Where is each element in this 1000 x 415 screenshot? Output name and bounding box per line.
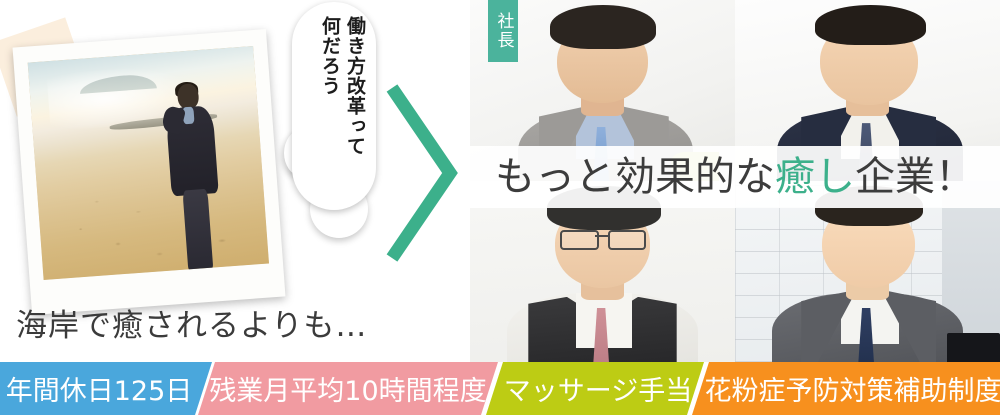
- headline: もっと効果的な癒し企業！: [495, 157, 975, 197]
- employee-navy-hair: [815, 5, 926, 45]
- speech-bubble-line-1: 働き方改革って: [343, 16, 366, 238]
- benefit-item-holidays[interactable]: 年間休日125日: [0, 362, 212, 415]
- left-panel: 働き方改革って 何だろう 海岸で癒されるよりも…: [0, 0, 470, 362]
- benefit-label-holidays: 年間休日125日: [6, 369, 193, 408]
- chevron-right-icon: [378, 78, 464, 268]
- employee-vest-glasses-left: [560, 230, 598, 250]
- benefit-item-overtime[interactable]: 残業月平均10時間程度: [198, 362, 498, 415]
- beach-photo: [28, 46, 269, 280]
- benefit-label-overtime: 残業月平均10時間程度: [209, 369, 486, 408]
- speech-bubble-text: 働き方改革って 何だろう: [284, 2, 376, 238]
- speech-bubble-line-2: 何だろう: [318, 16, 341, 238]
- headline-band: もっと効果的な癒し企業！: [470, 146, 1000, 208]
- employee-vest-glasses-right: [608, 230, 646, 250]
- president-hair: [550, 5, 656, 48]
- man-in-suit-silhouette: [154, 81, 235, 269]
- employee-vest-glasses-bridge: [595, 235, 608, 237]
- man-legs: [182, 189, 214, 271]
- headline-part2: 企業！: [855, 154, 975, 200]
- president-tag: 社長: [488, 0, 518, 62]
- benefit-label-hayfever: 花粉症予防対策補助制度: [705, 369, 1000, 408]
- recruitment-banner: 働き方改革って 何だろう 海岸で癒されるよりも…: [0, 0, 1000, 415]
- benefit-label-massage: マッサージ手当: [504, 369, 692, 408]
- headline-accent: 癒し: [775, 154, 855, 200]
- laptop-screen: [947, 333, 1000, 362]
- president-tag-label: 社長: [495, 12, 512, 50]
- benefits-bar: 年間休日125日 残業月平均10時間程度 マッサージ手当 花粉症予防対策補助制度: [0, 362, 1000, 415]
- benefit-item-hayfever[interactable]: 花粉症予防対策補助制度: [692, 362, 1000, 415]
- left-caption: 海岸で癒されるよりも…: [16, 300, 367, 345]
- polaroid-photo-frame: [13, 29, 286, 315]
- speech-bubble: 働き方改革って 何だろう: [284, 2, 376, 238]
- portrait-employee-vest: [470, 181, 735, 362]
- benefit-item-massage[interactable]: マッサージ手当: [486, 362, 704, 415]
- headline-part1: もっと効果的な: [495, 154, 775, 200]
- portrait-employee-brick: [735, 181, 1000, 362]
